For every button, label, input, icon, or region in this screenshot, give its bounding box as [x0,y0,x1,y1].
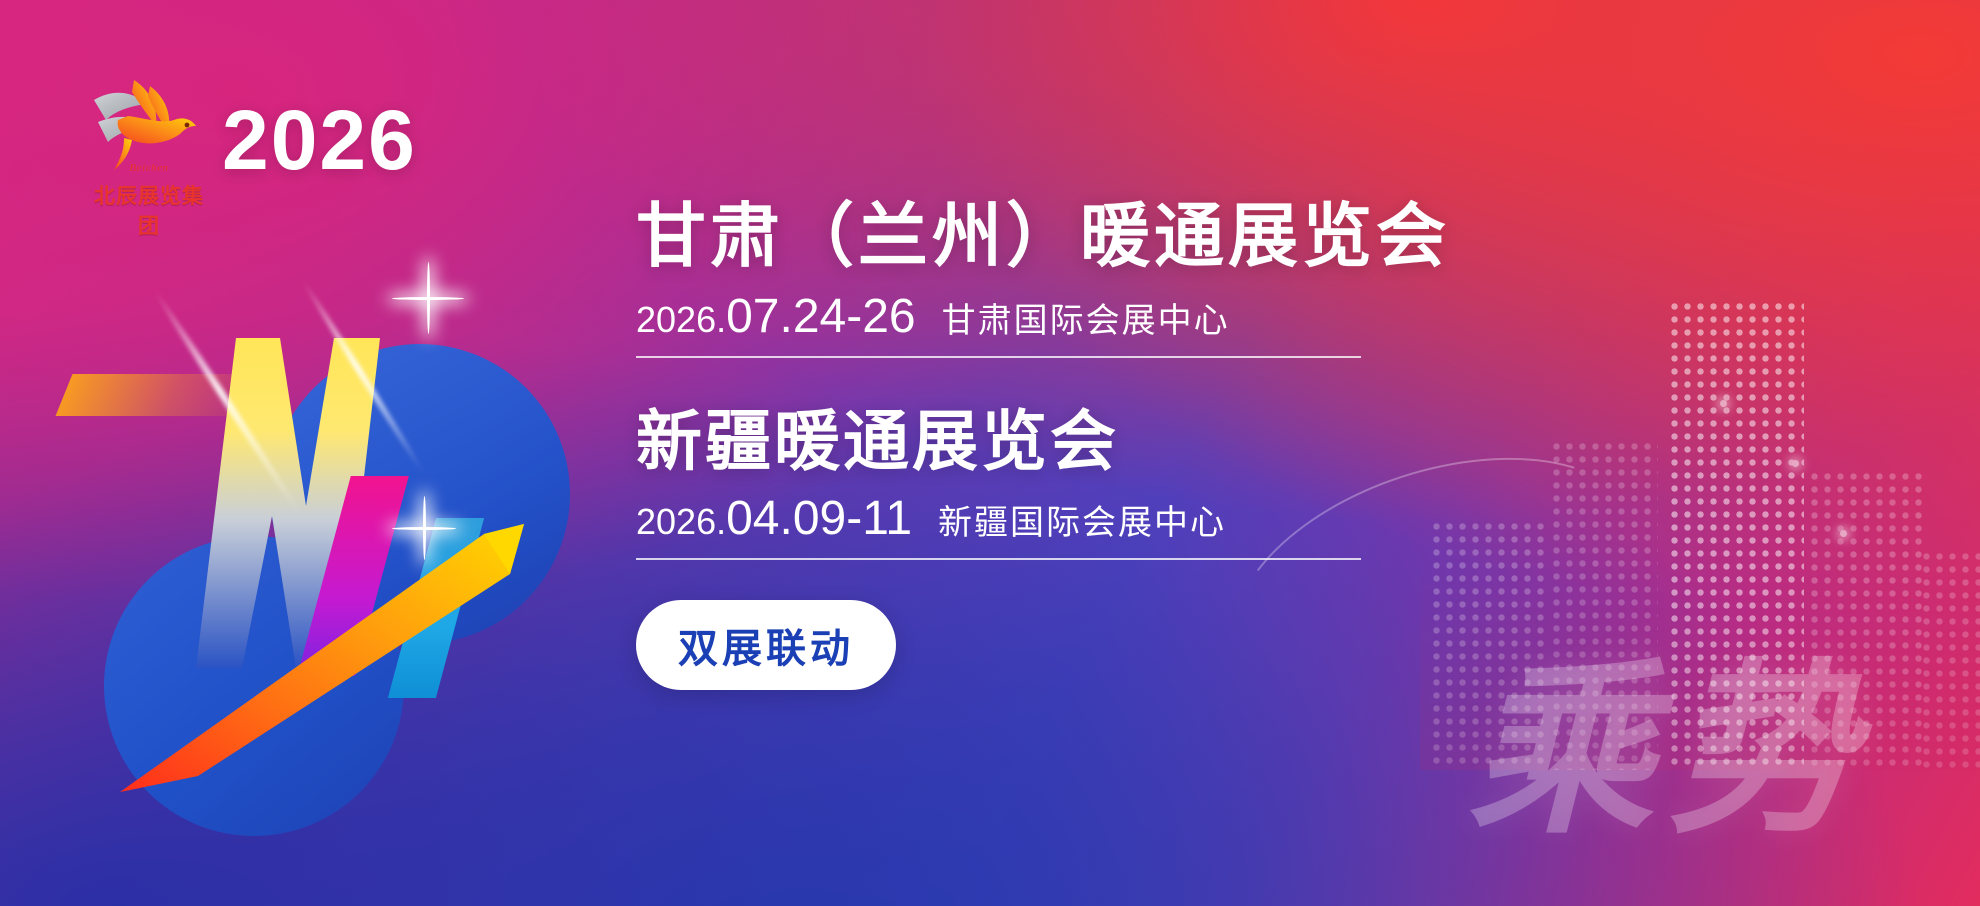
orange-arrow-shape [112,446,532,796]
event-venue-1: 甘肃国际会展中心 [942,293,1230,342]
event-date-year-2: 2026. [636,501,726,543]
event-title-1: 甘肃（兰州）暖通展览会 [636,196,1676,277]
year-badge: 2026 [222,92,417,189]
logo-english-text: Beichen [88,162,210,174]
logo-chinese-text: 北辰展览集团 [88,180,210,240]
event-dateline-1: 2026. 07.24-26 甘肃国际会展中心 [636,289,1361,358]
sparkle-star-icon [392,262,464,334]
event-date-main-1: 07.24-26 [726,289,916,344]
sparkle-star-icon [392,496,456,560]
dual-expo-cta-button[interactable]: 双展联动 [636,600,896,690]
event-dateline-2: 2026. 04.09-11 新疆国际会展中心 [636,491,1361,560]
abstract-n-arrow-mark [92,278,572,878]
event-copy-block: 甘肃（兰州）暖通展览会 2026. 07.24-26 甘肃国际会展中心 新疆暖通… [636,196,1676,690]
event-date-year-1: 2026. [636,299,726,341]
copy-spacer [636,358,1676,404]
event-date-main-2: 04.09-11 [726,491,912,546]
event-title-2: 新疆暖通展览会 [636,404,1676,480]
exhibition-banner: 乘势 [0,0,1980,906]
event-venue-2: 新疆国际会展中心 [938,495,1226,544]
company-logo: Beichen 北辰展览集团 [88,70,218,220]
